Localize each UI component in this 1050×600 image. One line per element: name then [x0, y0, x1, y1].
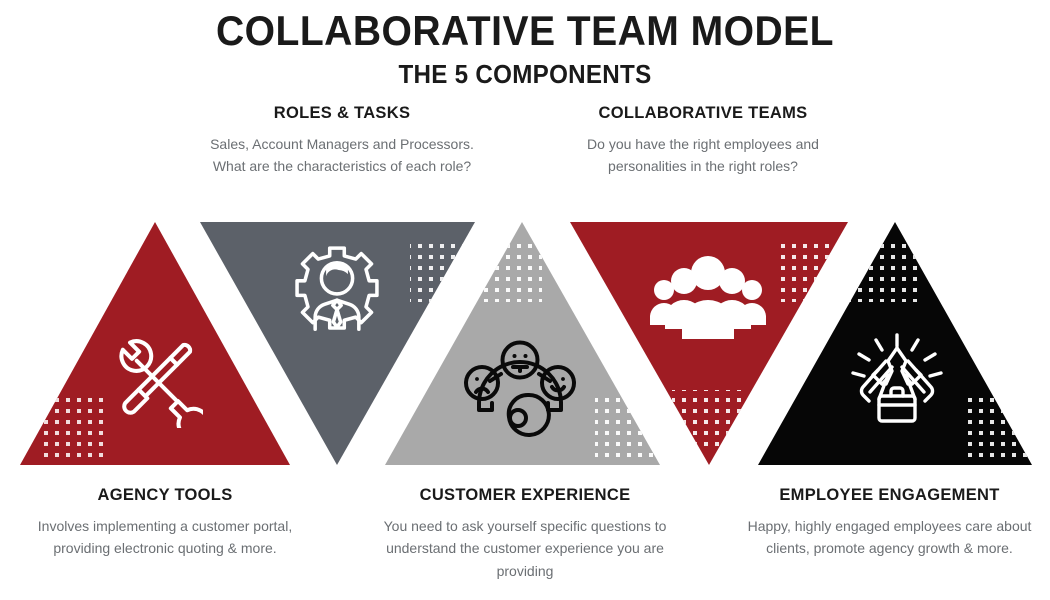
caption-description-employee-engagement: Happy, highly engaged employees care abo… — [737, 515, 1042, 560]
page-title: COLLABORATIVE TEAM MODEL — [37, 8, 1014, 53]
caption-employee-engagement: EMPLOYEE ENGAGEMENT Happy, highly engage… — [737, 486, 1042, 560]
caption-label-employee-engagement: EMPLOYEE ENGAGEMENT — [737, 486, 1042, 506]
caption-label-customer-experience: CUSTOMER EXPERIENCE — [375, 486, 675, 506]
caption-description-agency-tools: Involves implementing a customer portal,… — [20, 515, 310, 560]
caption-label-collaborative-teams: COLLABORATIVE TEAMS — [558, 104, 848, 124]
caption-description-roles-and-tasks: Sales, Account Managers and Processors. … — [197, 133, 487, 178]
caption-description-customer-experience: You need to ask yourself specific questi… — [375, 515, 675, 583]
caption-label-agency-tools: AGENCY TOOLS — [20, 486, 310, 506]
triangle-band — [0, 222, 1050, 467]
caption-label-roles-and-tasks: ROLES & TASKS — [197, 104, 487, 124]
caption-customer-experience: CUSTOMER EXPERIENCE You need to ask your… — [375, 486, 675, 583]
caption-roles-and-tasks: ROLES & TASKS Sales, Account Managers an… — [197, 104, 487, 178]
caption-description-collaborative-teams: Do you have the right employees and pers… — [558, 133, 848, 178]
caption-agency-tools: AGENCY TOOLS Involves implementing a cus… — [20, 486, 310, 560]
infographic-canvas: COLLABORATIVE TEAM MODEL THE 5 COMPONENT… — [0, 0, 1050, 600]
page-subtitle: THE 5 COMPONENTS — [37, 59, 1014, 90]
title-block: COLLABORATIVE TEAM MODEL THE 5 COMPONENT… — [0, 8, 1050, 90]
caption-collaborative-teams: COLLABORATIVE TEAMS Do you have the righ… — [558, 104, 848, 178]
